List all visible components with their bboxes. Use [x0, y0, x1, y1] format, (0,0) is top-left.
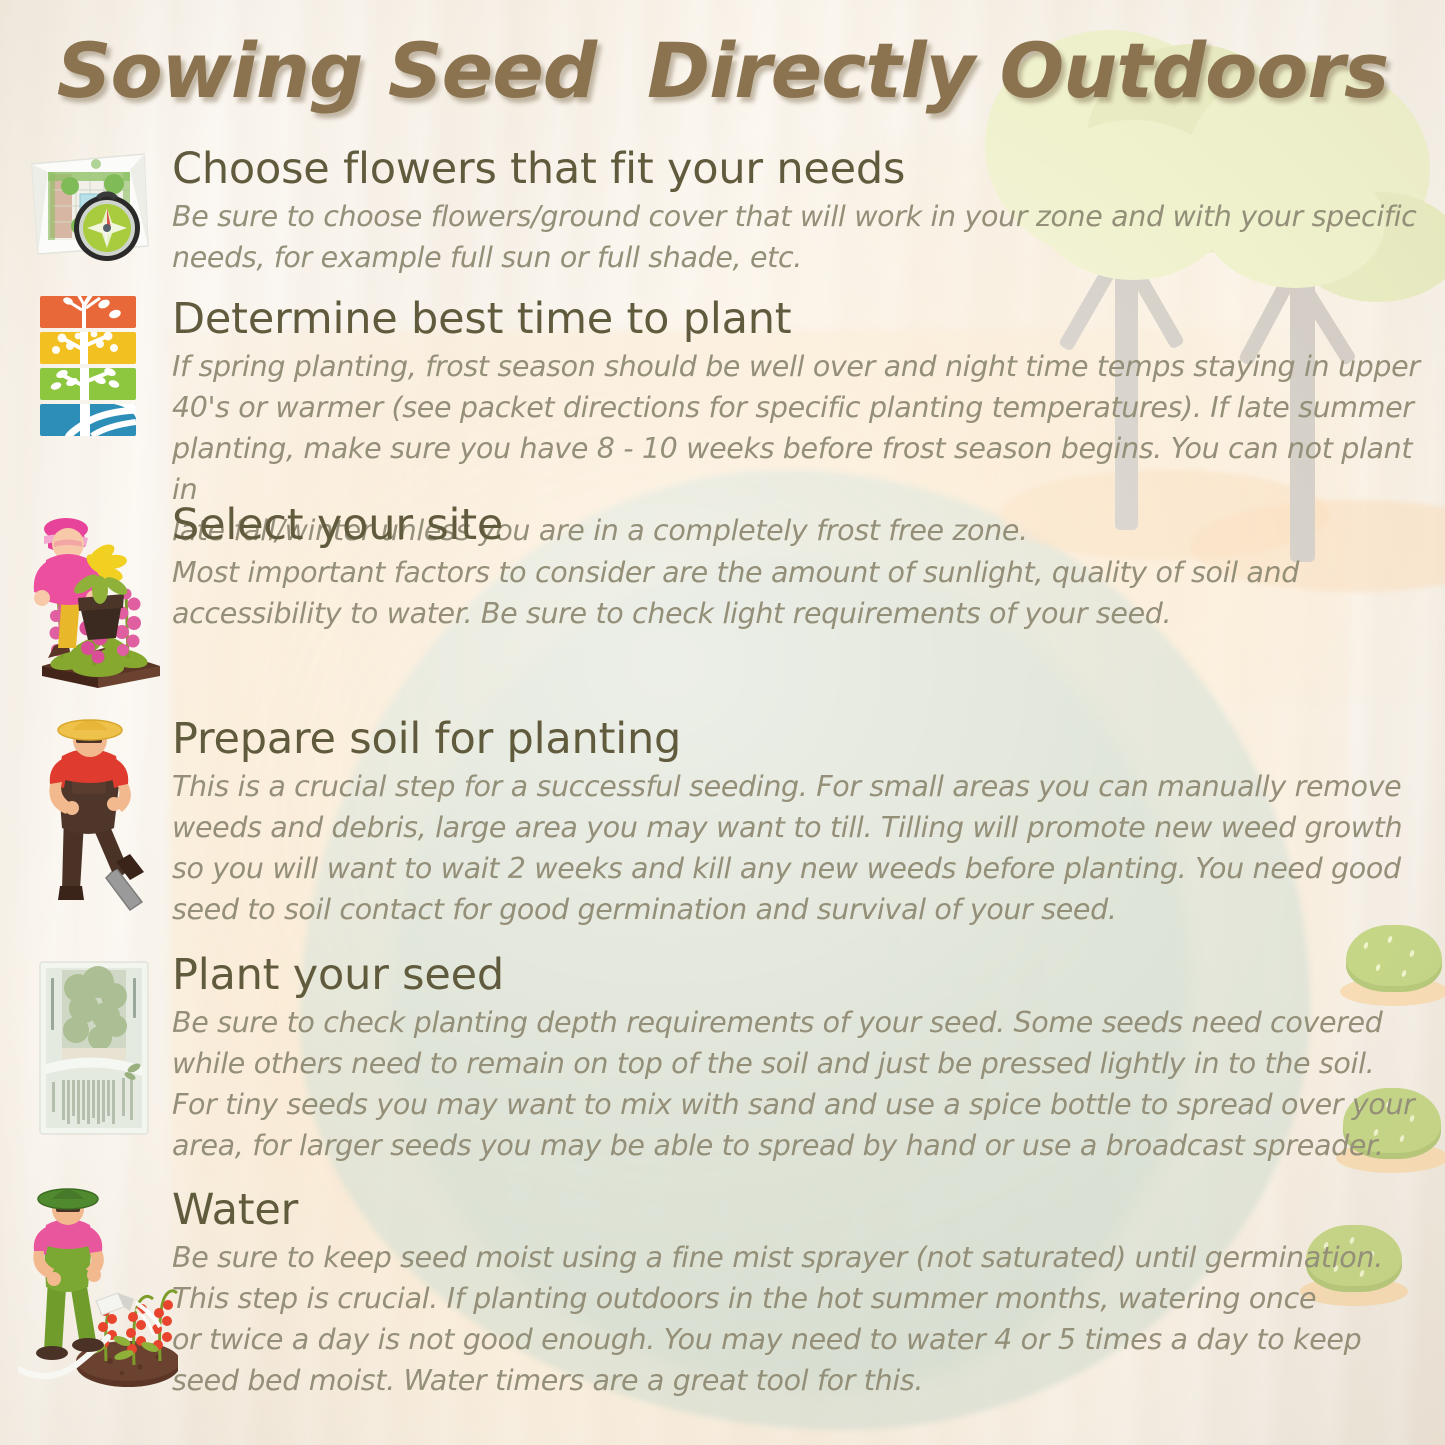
- step-body: Most important factors to consider are t…: [172, 552, 1430, 634]
- gardener-watering-icon: [18, 1183, 168, 1398]
- four-seasons-tree-icon: [18, 292, 168, 447]
- step-title: Prepare soil for planting: [172, 714, 1430, 764]
- gardener-with-shovel-icon: [18, 712, 168, 917]
- step-title: Select your site: [172, 500, 1430, 550]
- step-title: Determine best time to plant: [172, 294, 1430, 344]
- step-plant-seed: Plant your seed Be sure to check plantin…: [18, 948, 1430, 1166]
- step-body: Be sure to check planting depth requirem…: [172, 1002, 1430, 1166]
- step-body: Be sure to choose flowers/ground cover t…: [172, 196, 1430, 278]
- step-select-site: Select your site Most important factors …: [18, 498, 1430, 698]
- step-title: Plant your seed: [172, 950, 1430, 1000]
- step-title: Water: [172, 1185, 1430, 1235]
- step-title: Choose flowers that fit your needs: [172, 144, 1430, 194]
- step-water: Water Be sure to keep seed moist using a…: [18, 1183, 1430, 1401]
- gardener-with-potted-plant-icon: [18, 498, 168, 698]
- seed-packet-icon: [18, 948, 168, 1153]
- step-choose-flowers: Choose flowers that fit your needs Be su…: [18, 142, 1430, 278]
- garden-plan-compass-icon: [18, 142, 168, 272]
- steps-list: Choose flowers that fit your needs Be su…: [0, 0, 1445, 1445]
- step-body: This is a crucial step for a successful …: [172, 766, 1430, 930]
- step-body: Be sure to keep seed moist using a fine …: [172, 1237, 1430, 1401]
- page-title: Sowing Seed Directly Outdoors: [0, 26, 1445, 115]
- step-prepare-soil: Prepare soil for planting This is a cruc…: [18, 712, 1430, 930]
- infographic-poster: Sowing Seed Directly Outdoors: [0, 0, 1445, 1445]
